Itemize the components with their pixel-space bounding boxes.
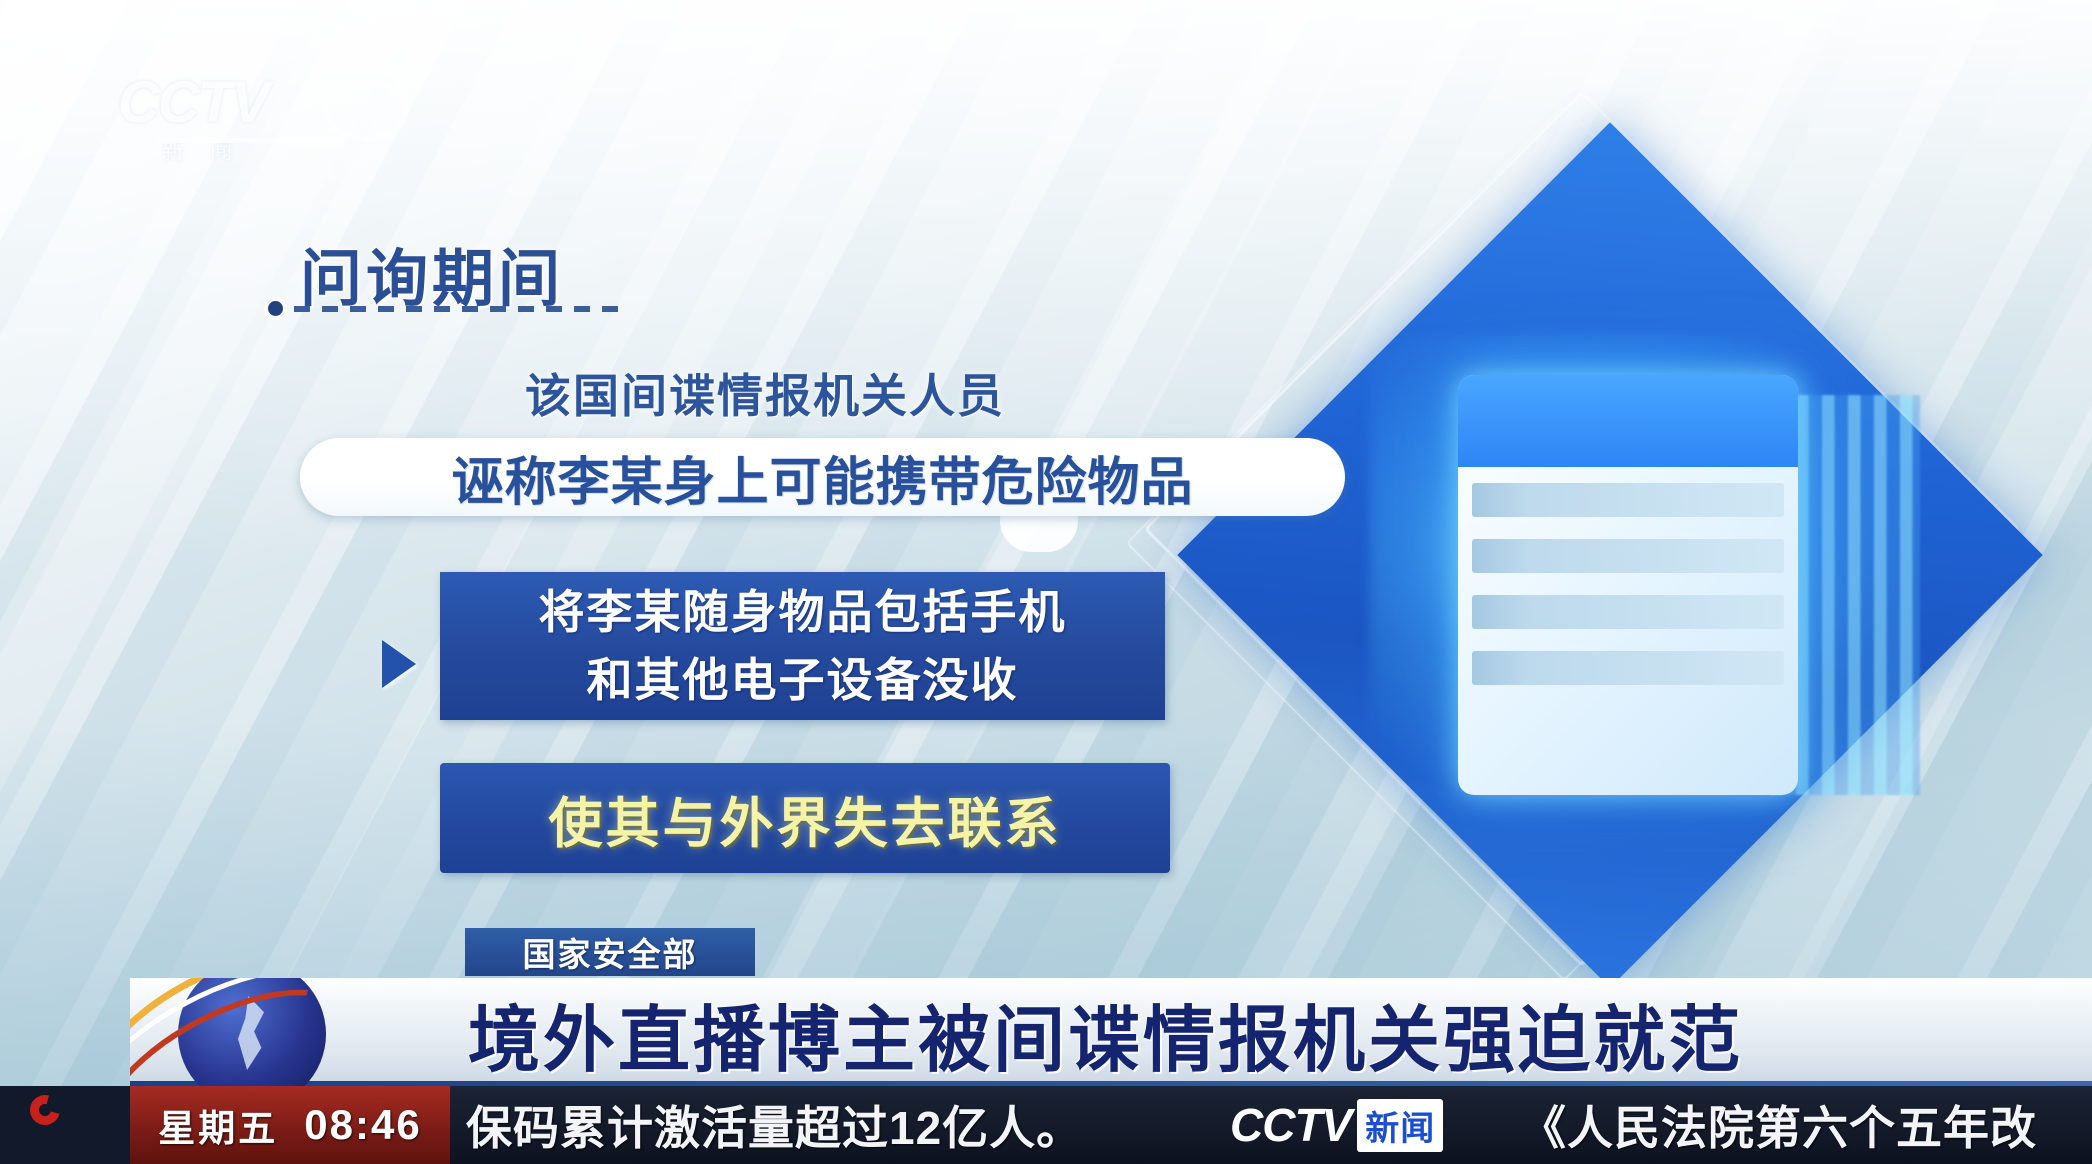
document-header-bar xyxy=(1458,375,1798,467)
slide-subheading: 该国间谍情报机关人员 xyxy=(525,360,1005,426)
detail-box-line-2: 和其他电子设备没收 xyxy=(587,646,1019,714)
globe-icon xyxy=(130,978,400,1086)
bullet-dot-icon xyxy=(268,301,283,316)
document-rows xyxy=(1458,467,1798,685)
ticker-cctv-news-logo: CCTV 新闻 xyxy=(1220,1086,1520,1164)
dashed-line xyxy=(294,306,620,312)
slide-heading-underline xyxy=(268,300,620,316)
agency-tag-text: 国家安全部 xyxy=(523,928,698,976)
document-row xyxy=(1472,539,1784,573)
broadcast-screen: CCTV 新 闻 问询期间 该国间谍情报机关人员 诬称李某身上可能携带危险 xyxy=(0,0,2092,1164)
document-row xyxy=(1472,651,1784,685)
ticker-tail-text: 《人民法院第六个五年改 xyxy=(1520,1086,2092,1164)
ticker-clock: 星期五 08:46 xyxy=(130,1086,450,1164)
detail-box-highlight-text: 使其与外界失去联系 xyxy=(549,779,1062,858)
detail-box-primary: 将李某随身物品包括手机 和其他电子设备没收 xyxy=(440,572,1165,720)
news-ticker: 星期五 08:46 保码累计激活量超过12亿人。 CCTV 新闻 《人民法院第六… xyxy=(0,1086,2092,1164)
headline-text: 境外直播博主被间谍情报机关强迫就范 xyxy=(468,981,1743,1086)
ticker-left-pad xyxy=(0,1086,130,1164)
ticker-weekday: 星期五 xyxy=(158,1098,278,1152)
ticker-cctv-wordmark: CCTV xyxy=(1230,1098,1351,1152)
document-row xyxy=(1472,483,1784,517)
document-list-icon xyxy=(1458,375,1798,795)
agency-tag: 国家安全部 xyxy=(465,928,755,976)
callout-pill: 诬称李某身上可能携带危险物品 xyxy=(300,438,1345,516)
ticker-news-badge: 新闻 xyxy=(1357,1099,1443,1152)
ticker-news-text: 保码累计激活量超过12亿人。 xyxy=(450,1086,1220,1164)
callout-pill-text: 诬称李某身上可能携带危险物品 xyxy=(451,440,1193,515)
diamond-graphic xyxy=(1300,245,2040,985)
headline: 境外直播博主被间谍情报机关强迫就范 xyxy=(468,986,2028,1080)
detail-box-line-1: 将李某随身物品包括手机 xyxy=(539,578,1067,646)
document-row xyxy=(1472,595,1784,629)
play-triangle-icon xyxy=(382,640,416,688)
detail-box-highlight: 使其与外界失去联系 xyxy=(440,763,1170,873)
ticker-time: 08:46 xyxy=(304,1101,421,1149)
